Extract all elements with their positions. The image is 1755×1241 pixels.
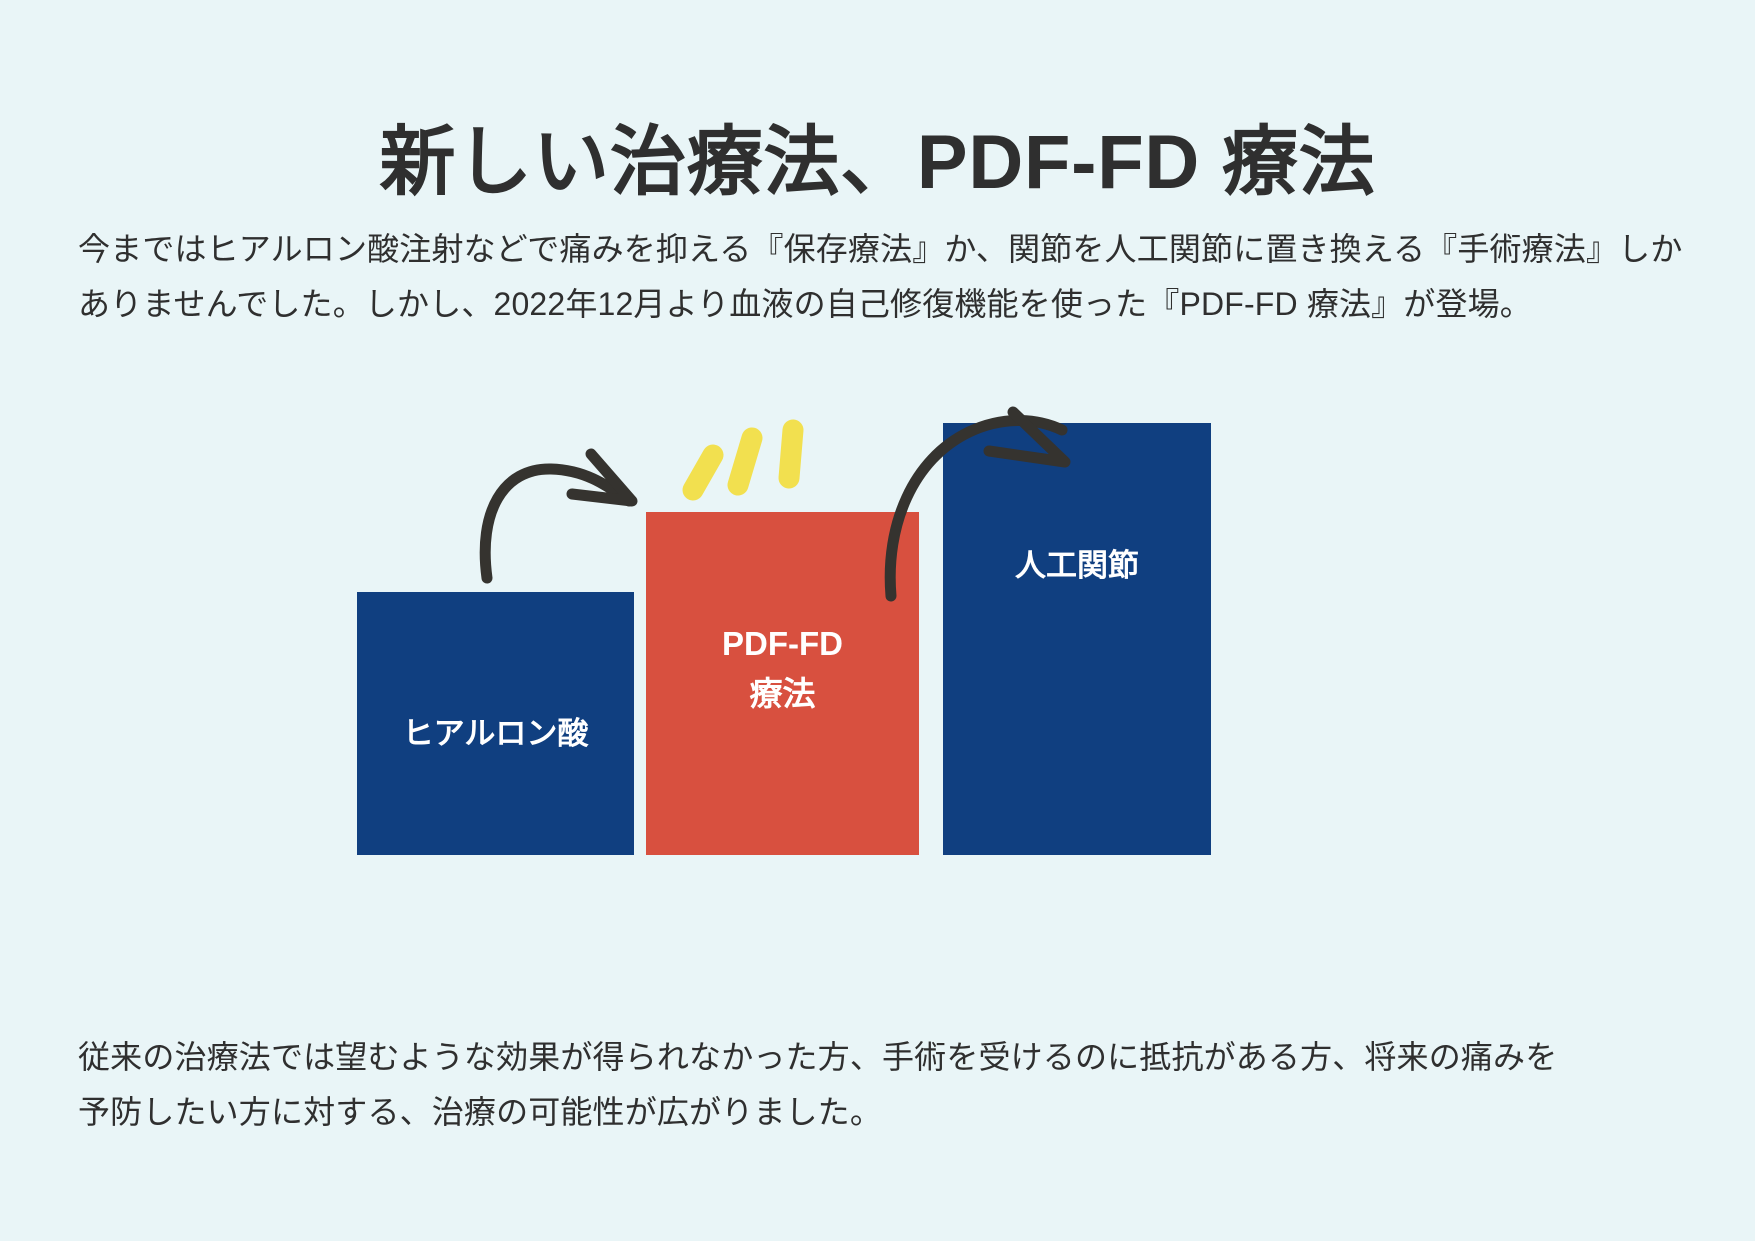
intro-line-2: ありませんでした。しかし、2022年12月より血液の自己修復機能を使った『PDF… xyxy=(78,277,1688,332)
poster-root: 新しい治療法、PDF-FD 療法 今まではヒアルロン酸注射などで痛みを抑える『保… xyxy=(0,0,1755,1241)
intro-line-1: 今まではヒアルロン酸注射などで痛みを抑える『保存療法』か、関節を人工関節に置き換… xyxy=(78,222,1688,277)
bar-pdf-fd[interactable]: PDF-FD 療法 xyxy=(646,512,919,855)
bar-label-hyaluronic-acid: ヒアルロン酸 xyxy=(403,711,589,758)
outro-paragraph: 従来の治療法では望むような効果が得られなかった方、手術を受けるのに抵抗がある方、… xyxy=(78,1030,1688,1140)
arrow-hyaluronic-to-pdffd-icon xyxy=(485,454,632,578)
bar-hyaluronic-acid[interactable]: ヒアルロン酸 xyxy=(357,592,634,855)
sparkle-icon xyxy=(693,430,793,490)
bar-artificial-joint[interactable]: 人工関節 xyxy=(943,423,1211,855)
outro-line-2: 予防したい方に対する、治療の可能性が広がりました。 xyxy=(78,1085,1688,1140)
bar-label-pdf-fd-line1: PDF-FD xyxy=(722,619,843,669)
bar-label-pdf-fd-line2: 療法 xyxy=(722,669,843,719)
page-title: 新しい治療法、PDF-FD 療法 xyxy=(0,119,1755,206)
bar-label-artificial-joint: 人工関節 xyxy=(1015,543,1139,590)
outro-line-1: 従来の治療法では望むような効果が得られなかった方、手術を受けるのに抵抗がある方、… xyxy=(78,1030,1688,1085)
intro-paragraph: 今まではヒアルロン酸注射などで痛みを抑える『保存療法』か、関節を人工関節に置き換… xyxy=(78,222,1688,332)
